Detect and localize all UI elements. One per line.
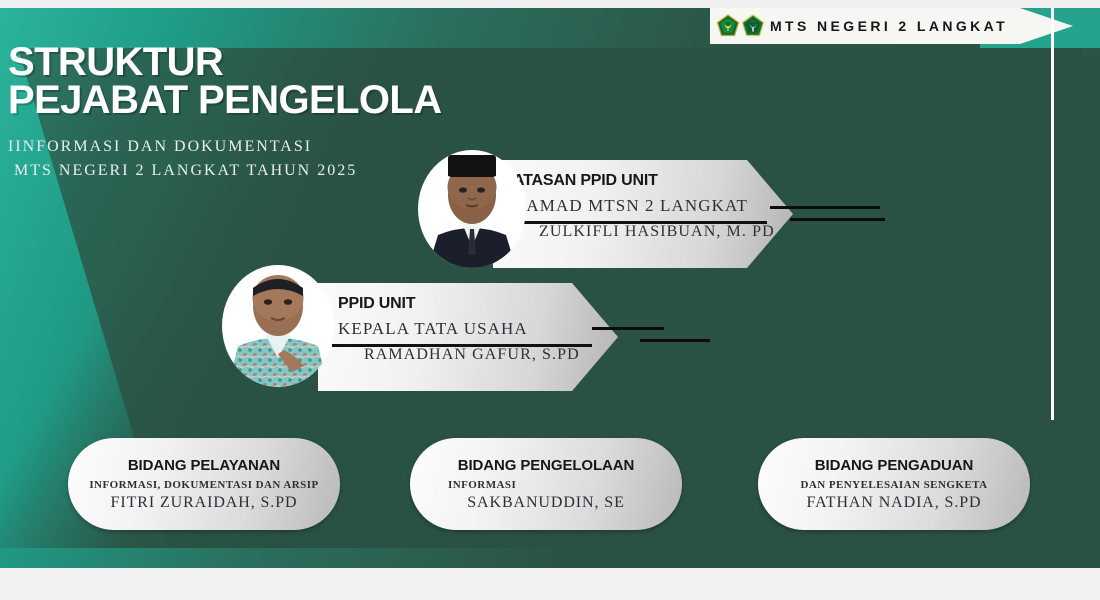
page-title-line2: PEJABAT PENGELOLA xyxy=(8,82,528,120)
org-node-content: ATASAN PPID UNIT KAMAD MTSN 2 LANGKAT ZU… xyxy=(493,160,793,241)
org-node-name: RAMADHAN GAFUR, S.PD xyxy=(364,346,618,364)
org-node-role: ATASAN PPID UNIT xyxy=(513,172,793,190)
org-node-ppid-unit[interactable]: PPID UNIT KEPALA TATA USAHA RAMADHAN GAF… xyxy=(318,283,618,391)
page-title: STRUKTUR PEJABAT PENGELOLA xyxy=(8,44,528,119)
division-title: BIDANG PELAYANAN xyxy=(128,457,280,474)
division-name: FITRI ZURAIDAH, S.PD xyxy=(111,494,298,512)
ribbon-logo-group xyxy=(716,14,765,38)
header-ribbon: MTS NEGERI 2 LANGKAT xyxy=(710,8,1073,44)
org-node-name: ZULKIFLI HASIBUAN, M. PD xyxy=(539,223,793,241)
division-subtitle: INFORMASI xyxy=(448,479,516,491)
division-title: BIDANG PENGADUAN xyxy=(815,457,973,474)
division-subtitle: DAN PENYELESAIAN SENGKETA xyxy=(800,479,987,491)
org-node-underline xyxy=(332,344,592,347)
decor-line-2a xyxy=(592,327,664,330)
decor-line-2b xyxy=(640,339,710,342)
page-subtitle-line1: IINFORMASI DAN DOKUMENTASI xyxy=(8,138,312,155)
madrasah-logo-icon xyxy=(741,14,765,38)
division-card-pengaduan[interactable]: BIDANG PENGADUAN DAN PENYELESAIAN SENGKE… xyxy=(758,438,1030,530)
canvas-top-frame xyxy=(0,0,1100,8)
canvas-bottom-frame xyxy=(0,568,1100,600)
division-subtitle: INFORMASI, DOKUMENTASI DAN ARSIP xyxy=(89,479,318,491)
division-name: SAKBANUDDIN, SE xyxy=(467,494,625,512)
decor-line-1b xyxy=(790,218,885,221)
avatar-ramadhan-gafur xyxy=(222,262,334,387)
org-node-content: PPID UNIT KEPALA TATA USAHA RAMADHAN GAF… xyxy=(318,283,618,364)
division-card-pelayanan[interactable]: BIDANG PELAYANAN INFORMASI, DOKUMENTASI … xyxy=(68,438,340,530)
decor-line-1a xyxy=(770,206,880,209)
org-node-position: KAMAD MTSN 2 LANGKAT xyxy=(513,196,793,216)
slide-canvas: MTS NEGERI 2 LANGKAT STRUKTUR PEJABAT PE… xyxy=(0,0,1100,600)
division-name: FATHAN NADIA, S.PD xyxy=(806,494,981,512)
org-node-card[interactable]: ATASAN PPID UNIT KAMAD MTSN 2 LANGKAT ZU… xyxy=(493,160,793,268)
org-node-position: KEPALA TATA USAHA xyxy=(338,319,618,339)
org-node-atasan-ppid-unit[interactable]: ATASAN PPID UNIT KAMAD MTSN 2 LANGKAT ZU… xyxy=(493,160,793,268)
org-node-underline xyxy=(507,221,767,224)
division-title: BIDANG PENGELOLAAN xyxy=(458,457,635,474)
header-vertical-rule xyxy=(1051,8,1054,420)
org-node-card[interactable]: PPID UNIT KEPALA TATA USAHA RAMADHAN GAF… xyxy=(318,283,618,391)
avatar-zulkifli-hasibuan xyxy=(418,143,526,268)
org-node-role: PPID UNIT xyxy=(338,295,618,313)
ribbon-title-text: MTS NEGERI 2 LANGKAT xyxy=(770,18,1008,34)
kemenag-logo-icon xyxy=(716,14,740,38)
division-card-pengelolaan[interactable]: BIDANG PENGELOLAAN INFORMASI SAKBANUDDIN… xyxy=(410,438,682,530)
